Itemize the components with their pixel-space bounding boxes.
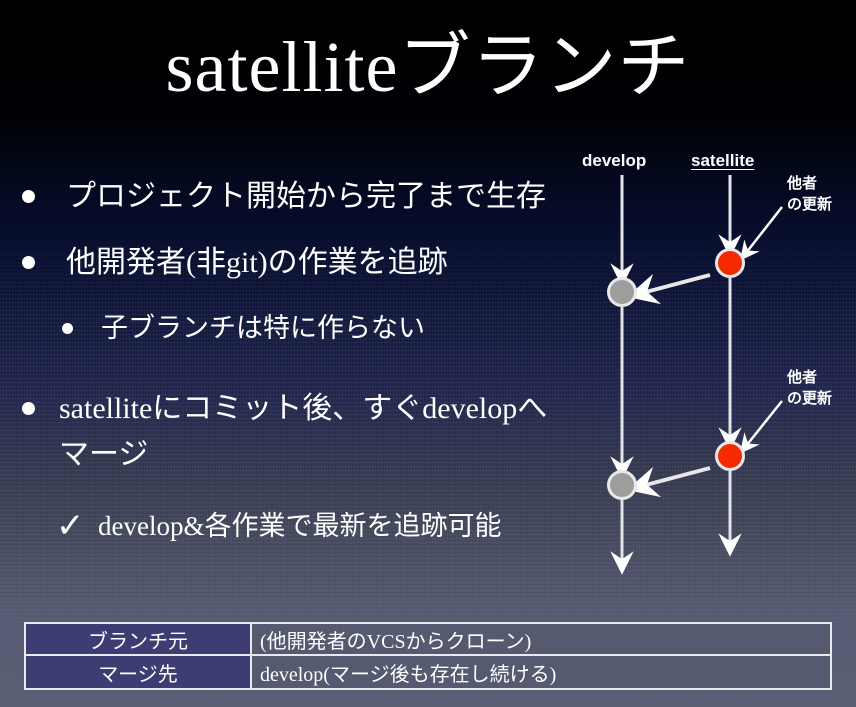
- table-cell-key: ブランチ元: [26, 624, 252, 654]
- bullet-dot-icon: [62, 323, 73, 334]
- merge-arrow-2: [642, 468, 710, 486]
- table-cell-value: (他開発者のVCSからクローン): [252, 624, 830, 654]
- list-item: ✓ develop&各作業で最新を追跡可能: [0, 505, 501, 547]
- branch-info-table: ブランチ元 (他開発者のVCSからクローン) マージ先 develop(マージ後…: [24, 622, 832, 690]
- list-item: 子ブランチは特に作らない: [0, 307, 425, 349]
- annotation-line-2: の更新: [787, 194, 832, 215]
- bullet-dot-icon: [22, 402, 35, 415]
- merge-arrow-1: [642, 275, 710, 293]
- slide-canvas: satelliteブランチ プロジェクト開始から完了まで生存 他開発者(非git…: [0, 0, 856, 707]
- table-cell-value: develop(マージ後も存在し続ける): [252, 656, 830, 688]
- table-cell-key: マージ先: [26, 656, 252, 688]
- annotation-line-2: の更新: [787, 388, 832, 409]
- list-item-label: develop&各作業で最新を追跡可能: [98, 505, 501, 547]
- develop-merge-node: [607, 277, 637, 307]
- develop-merge-node: [607, 470, 637, 500]
- list-item-label: 他開発者(非git)の作業を追跡: [66, 240, 448, 286]
- check-icon: ✓: [56, 509, 85, 543]
- list-item-label: プロジェクト開始から完了まで生存: [66, 174, 546, 220]
- annotation-other-update: 他者 の更新: [787, 367, 832, 409]
- satellite-commit-node: [715, 248, 745, 278]
- bullet-dot-icon: [22, 190, 35, 203]
- annotation-arrow-2: [746, 401, 782, 446]
- list-item: 他開発者(非git)の作業を追跡: [0, 240, 448, 286]
- list-item-label-line2: マージ: [59, 432, 547, 478]
- annotation-line-1: 他者: [787, 367, 832, 388]
- annotation-arrow-1: [746, 207, 782, 253]
- annotation-line-1: 他者: [787, 173, 832, 194]
- page-title: satelliteブランチ: [0, 24, 856, 110]
- table-row: ブランチ元 (他開発者のVCSからクローン): [26, 624, 830, 656]
- list-item: satelliteにコミット後、すぐdevelopへ マージ: [0, 386, 547, 478]
- list-item-label: satelliteにコミット後、すぐdevelopへ: [59, 386, 547, 432]
- bullet-dot-icon: [22, 256, 35, 269]
- satellite-commit-node: [715, 441, 745, 471]
- branch-diagram: develop satellite: [560, 145, 856, 585]
- list-item: プロジェクト開始から完了まで生存: [0, 174, 546, 220]
- table-row: マージ先 develop(マージ後も存在し続ける): [26, 656, 830, 688]
- list-item-label: 子ブランチは特に作らない: [101, 307, 425, 349]
- annotation-other-update: 他者 の更新: [787, 173, 832, 215]
